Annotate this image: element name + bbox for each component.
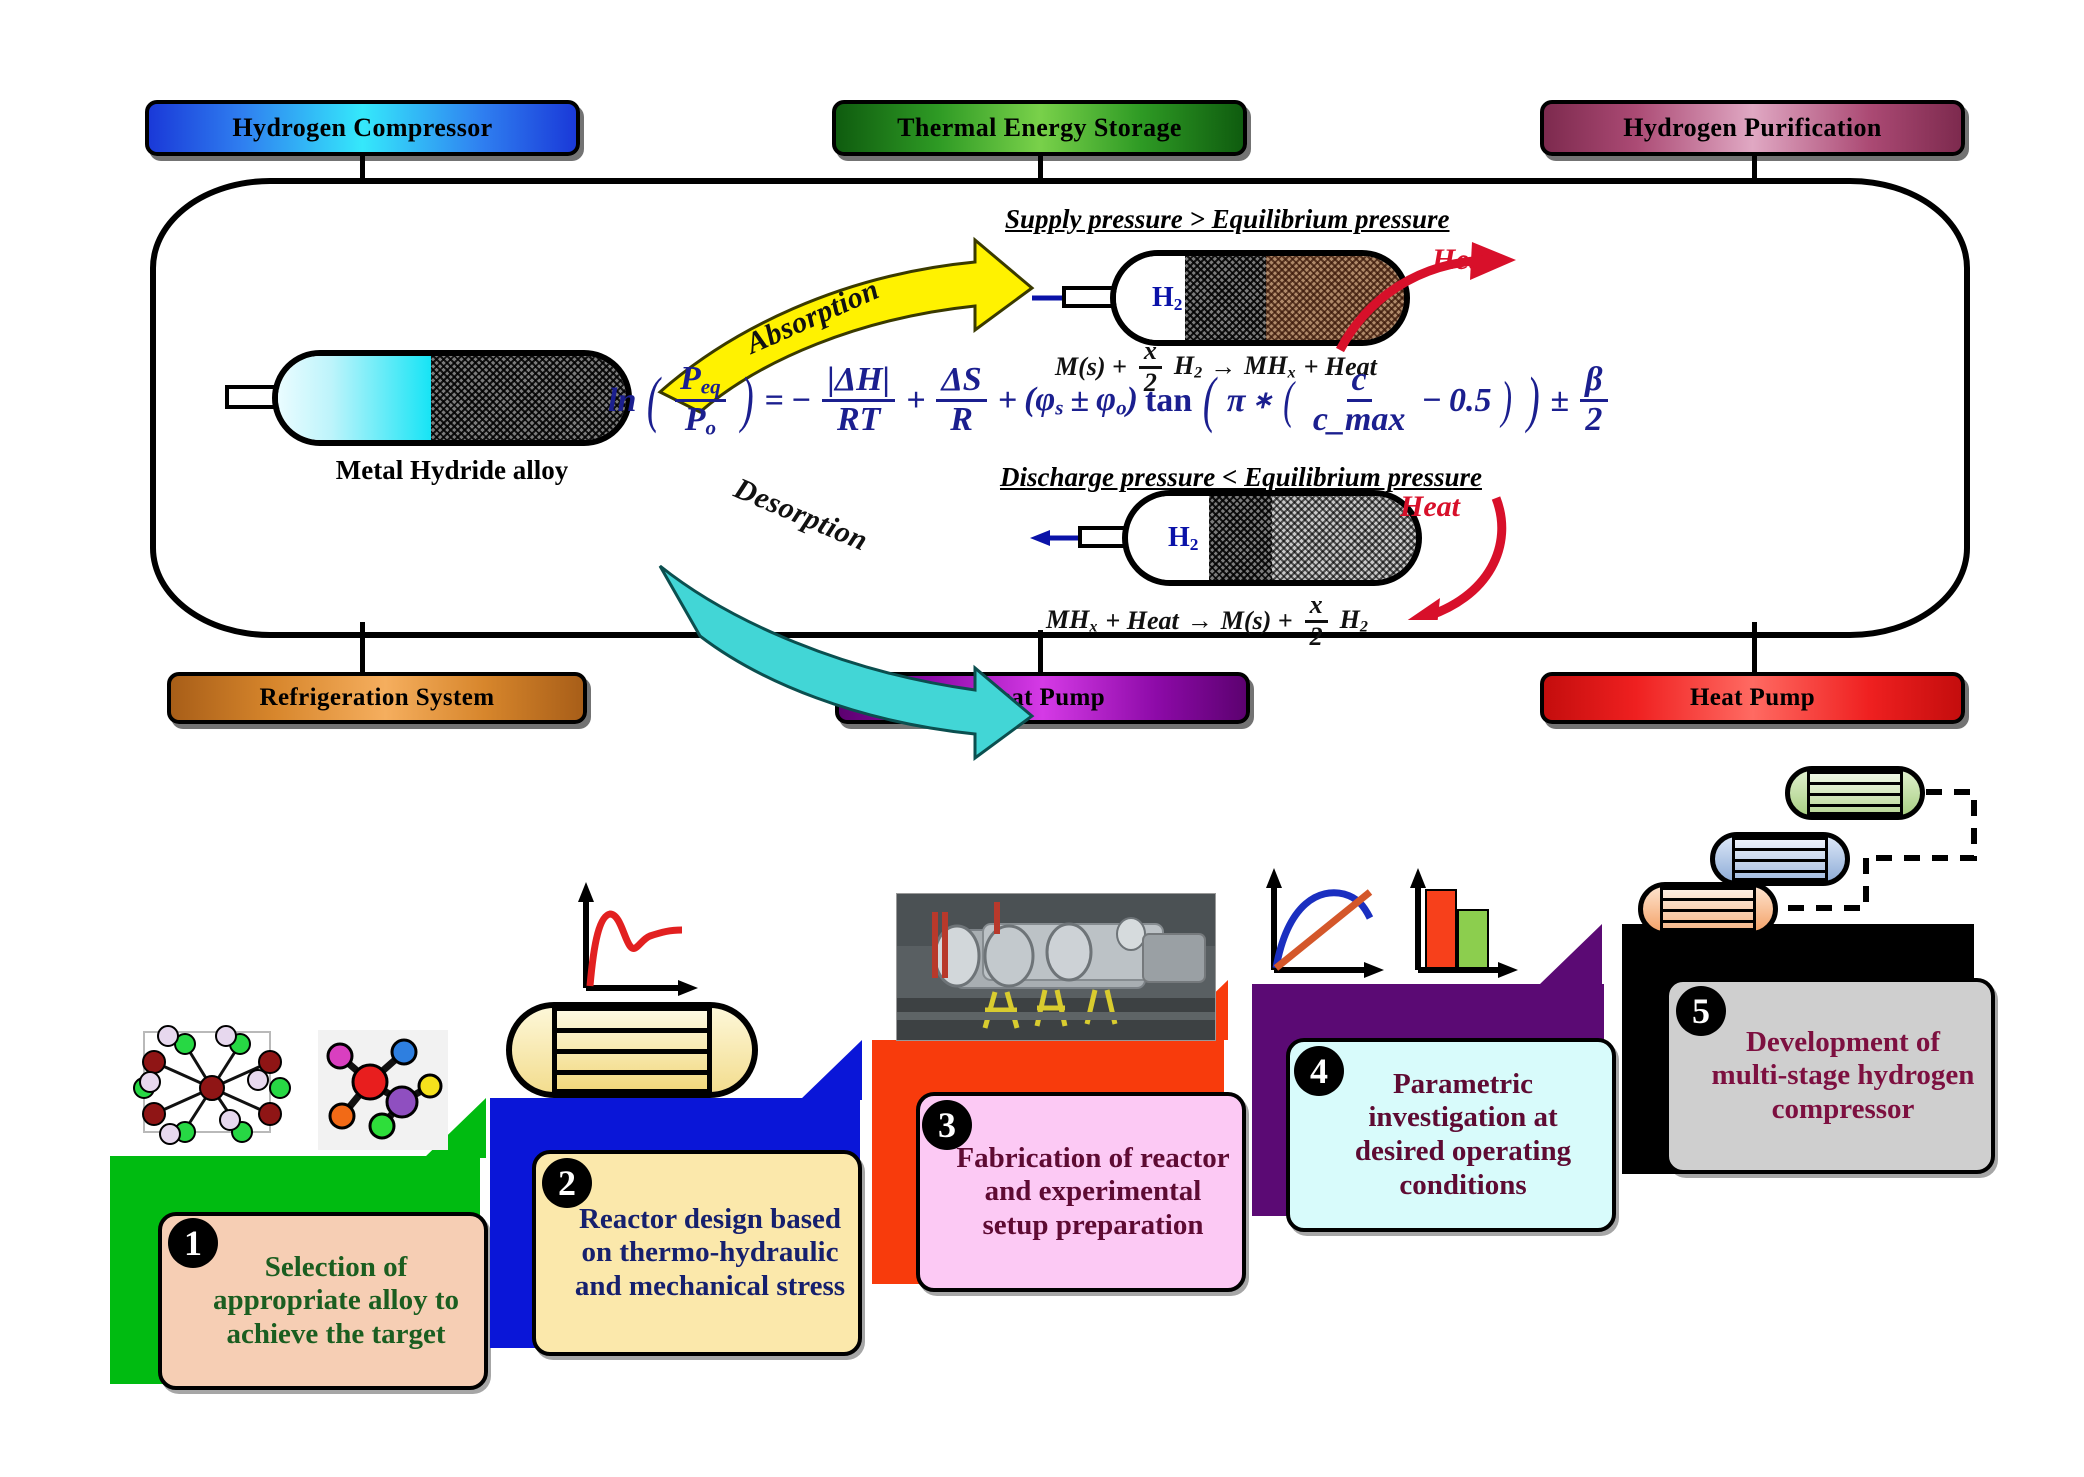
equation-minus-2: − — [1421, 382, 1442, 420]
application-box-heat-pump-right[interactable]: Heat Pump — [1540, 672, 1965, 724]
step-2-number-badge: 2 — [542, 1158, 592, 1208]
equation-ln: ln — [608, 382, 636, 420]
equation-beta-term: β 2 — [1580, 363, 1607, 437]
connector-line-heat-pump-right — [1752, 622, 1757, 674]
equation-times: ∗ — [1252, 386, 1272, 415]
equation-pressure-ratio: Peq Po — [675, 362, 726, 439]
equation-paren-open: ( — [647, 376, 660, 426]
step-5-stage-link-lines — [1760, 780, 1990, 930]
equation-paren-close: ) — [741, 376, 754, 426]
step-1-icon-molecule — [318, 1030, 448, 1150]
equation-inner-paren-close: ) — [1502, 380, 1513, 422]
step-5-text: Development of multi-stage hydrogen comp… — [1679, 1026, 1981, 1127]
step-4-text: Parametric investigation at desired oper… — [1300, 1068, 1602, 1203]
step-3-number-badge: 3 — [922, 1100, 972, 1150]
step-1-text: Selection of appropriate alloy to achiev… — [172, 1251, 474, 1352]
equation-enthalpy-term: |ΔH| RT — [822, 363, 895, 437]
step-4-icon-line-chart — [1258, 866, 1388, 984]
application-box-hydrogen-purification[interactable]: Hydrogen Purification — [1540, 100, 1965, 156]
desorption-heat-label: Heat — [1400, 490, 1460, 524]
equation-tan: tan — [1145, 382, 1192, 420]
step-5-number-badge: 5 — [1676, 986, 1726, 1036]
diagram-canvas: Hydrogen Compressor Thermal Energy Stora… — [0, 0, 2084, 1477]
equation-inner-paren-open: ( — [1283, 380, 1294, 422]
step-4-number-badge: 4 — [1294, 1046, 1344, 1096]
step-5-icon-stage-1-capsule — [1638, 882, 1778, 936]
absorption-capsule-unreacted-bed — [1185, 256, 1266, 340]
equation-half: 0.5 — [1449, 382, 1492, 420]
equation-plus-1: + — [906, 382, 925, 420]
step-1-icon-crystal-lattice — [130, 1022, 310, 1152]
step-3-icon-pressure-vessel-photo — [896, 893, 1216, 1041]
step-2-bevel — [800, 1040, 862, 1100]
equation-plus-2: + — [998, 382, 1017, 420]
application-box-thermal-energy-storage[interactable]: Thermal Energy Storage — [832, 100, 1247, 156]
step-4-bevel — [1540, 924, 1602, 984]
absorption-heat-label: Heat — [1432, 243, 1492, 277]
equation-pm-2: ± — [1550, 382, 1569, 420]
equation-equals: = — [764, 382, 783, 420]
step-4-icon-bar-chart — [1402, 866, 1522, 984]
alloy-capsule-gas-section — [278, 356, 431, 440]
desorption-condition-label: Discharge pressure < Equilibrium pressur… — [1000, 462, 1482, 493]
step-1-tread — [110, 1156, 480, 1218]
absorption-hydrogen-label: H2 — [1152, 282, 1182, 315]
equation-pi: π — [1227, 382, 1246, 420]
equation-tan-paren-close: ) — [1527, 376, 1540, 426]
connector-line-heat-pump-left — [1038, 630, 1043, 674]
desorption-hydrogen-label: H2 — [1168, 522, 1198, 555]
step-2-icon-reactor-capsule — [506, 1002, 758, 1098]
desorption-capsule-desorbed-bed — [1209, 496, 1272, 580]
application-box-heat-pump-left[interactable]: Heat Pump — [835, 672, 1250, 724]
equation-minus: − — [791, 382, 812, 420]
absorption-condition-label: Supply pressure > Equilibrium pressure — [1005, 204, 1450, 235]
step-2-text: Reactor design based on thermo-hydraulic… — [546, 1203, 848, 1304]
application-box-hydrogen-compressor[interactable]: Hydrogen Compressor — [145, 100, 580, 156]
equation-tan-paren-open: ( — [1203, 376, 1216, 426]
step-3-text: Fabrication of reactor and experimental … — [930, 1142, 1232, 1243]
equation-phi-slope: (φs — [1024, 381, 1063, 421]
absorption-capsule-inlet-stem — [1062, 286, 1116, 308]
equation-phi-hysteresis: φo) — [1096, 381, 1138, 421]
connector-line-refrigeration-system — [360, 622, 365, 674]
equation-concentration-ratio: c c_max — [1308, 363, 1411, 437]
equation-pm-1: ± — [1071, 382, 1090, 420]
alloy-capsule-hydride-bed — [431, 356, 626, 440]
equation-entropy-term: ΔS R — [936, 363, 986, 437]
application-box-refrigeration-system[interactable]: Refrigeration System — [167, 672, 587, 724]
step-4-tread — [1252, 984, 1604, 1046]
alloy-capsule — [272, 350, 632, 446]
van-t-hoff-equation: ln ( Peq Po ) = − |ΔH| RT + ΔS R + (φs ±… — [608, 362, 1612, 439]
step-2-icon-line-chart — [570, 880, 700, 1000]
alloy-capsule-label: Metal Hydride alloy — [272, 455, 632, 486]
step-1-number-badge: 1 — [168, 1218, 218, 1268]
desorption-reaction-equation: MHx + Heat → M(s) + x 2 H2 — [1046, 592, 1368, 650]
